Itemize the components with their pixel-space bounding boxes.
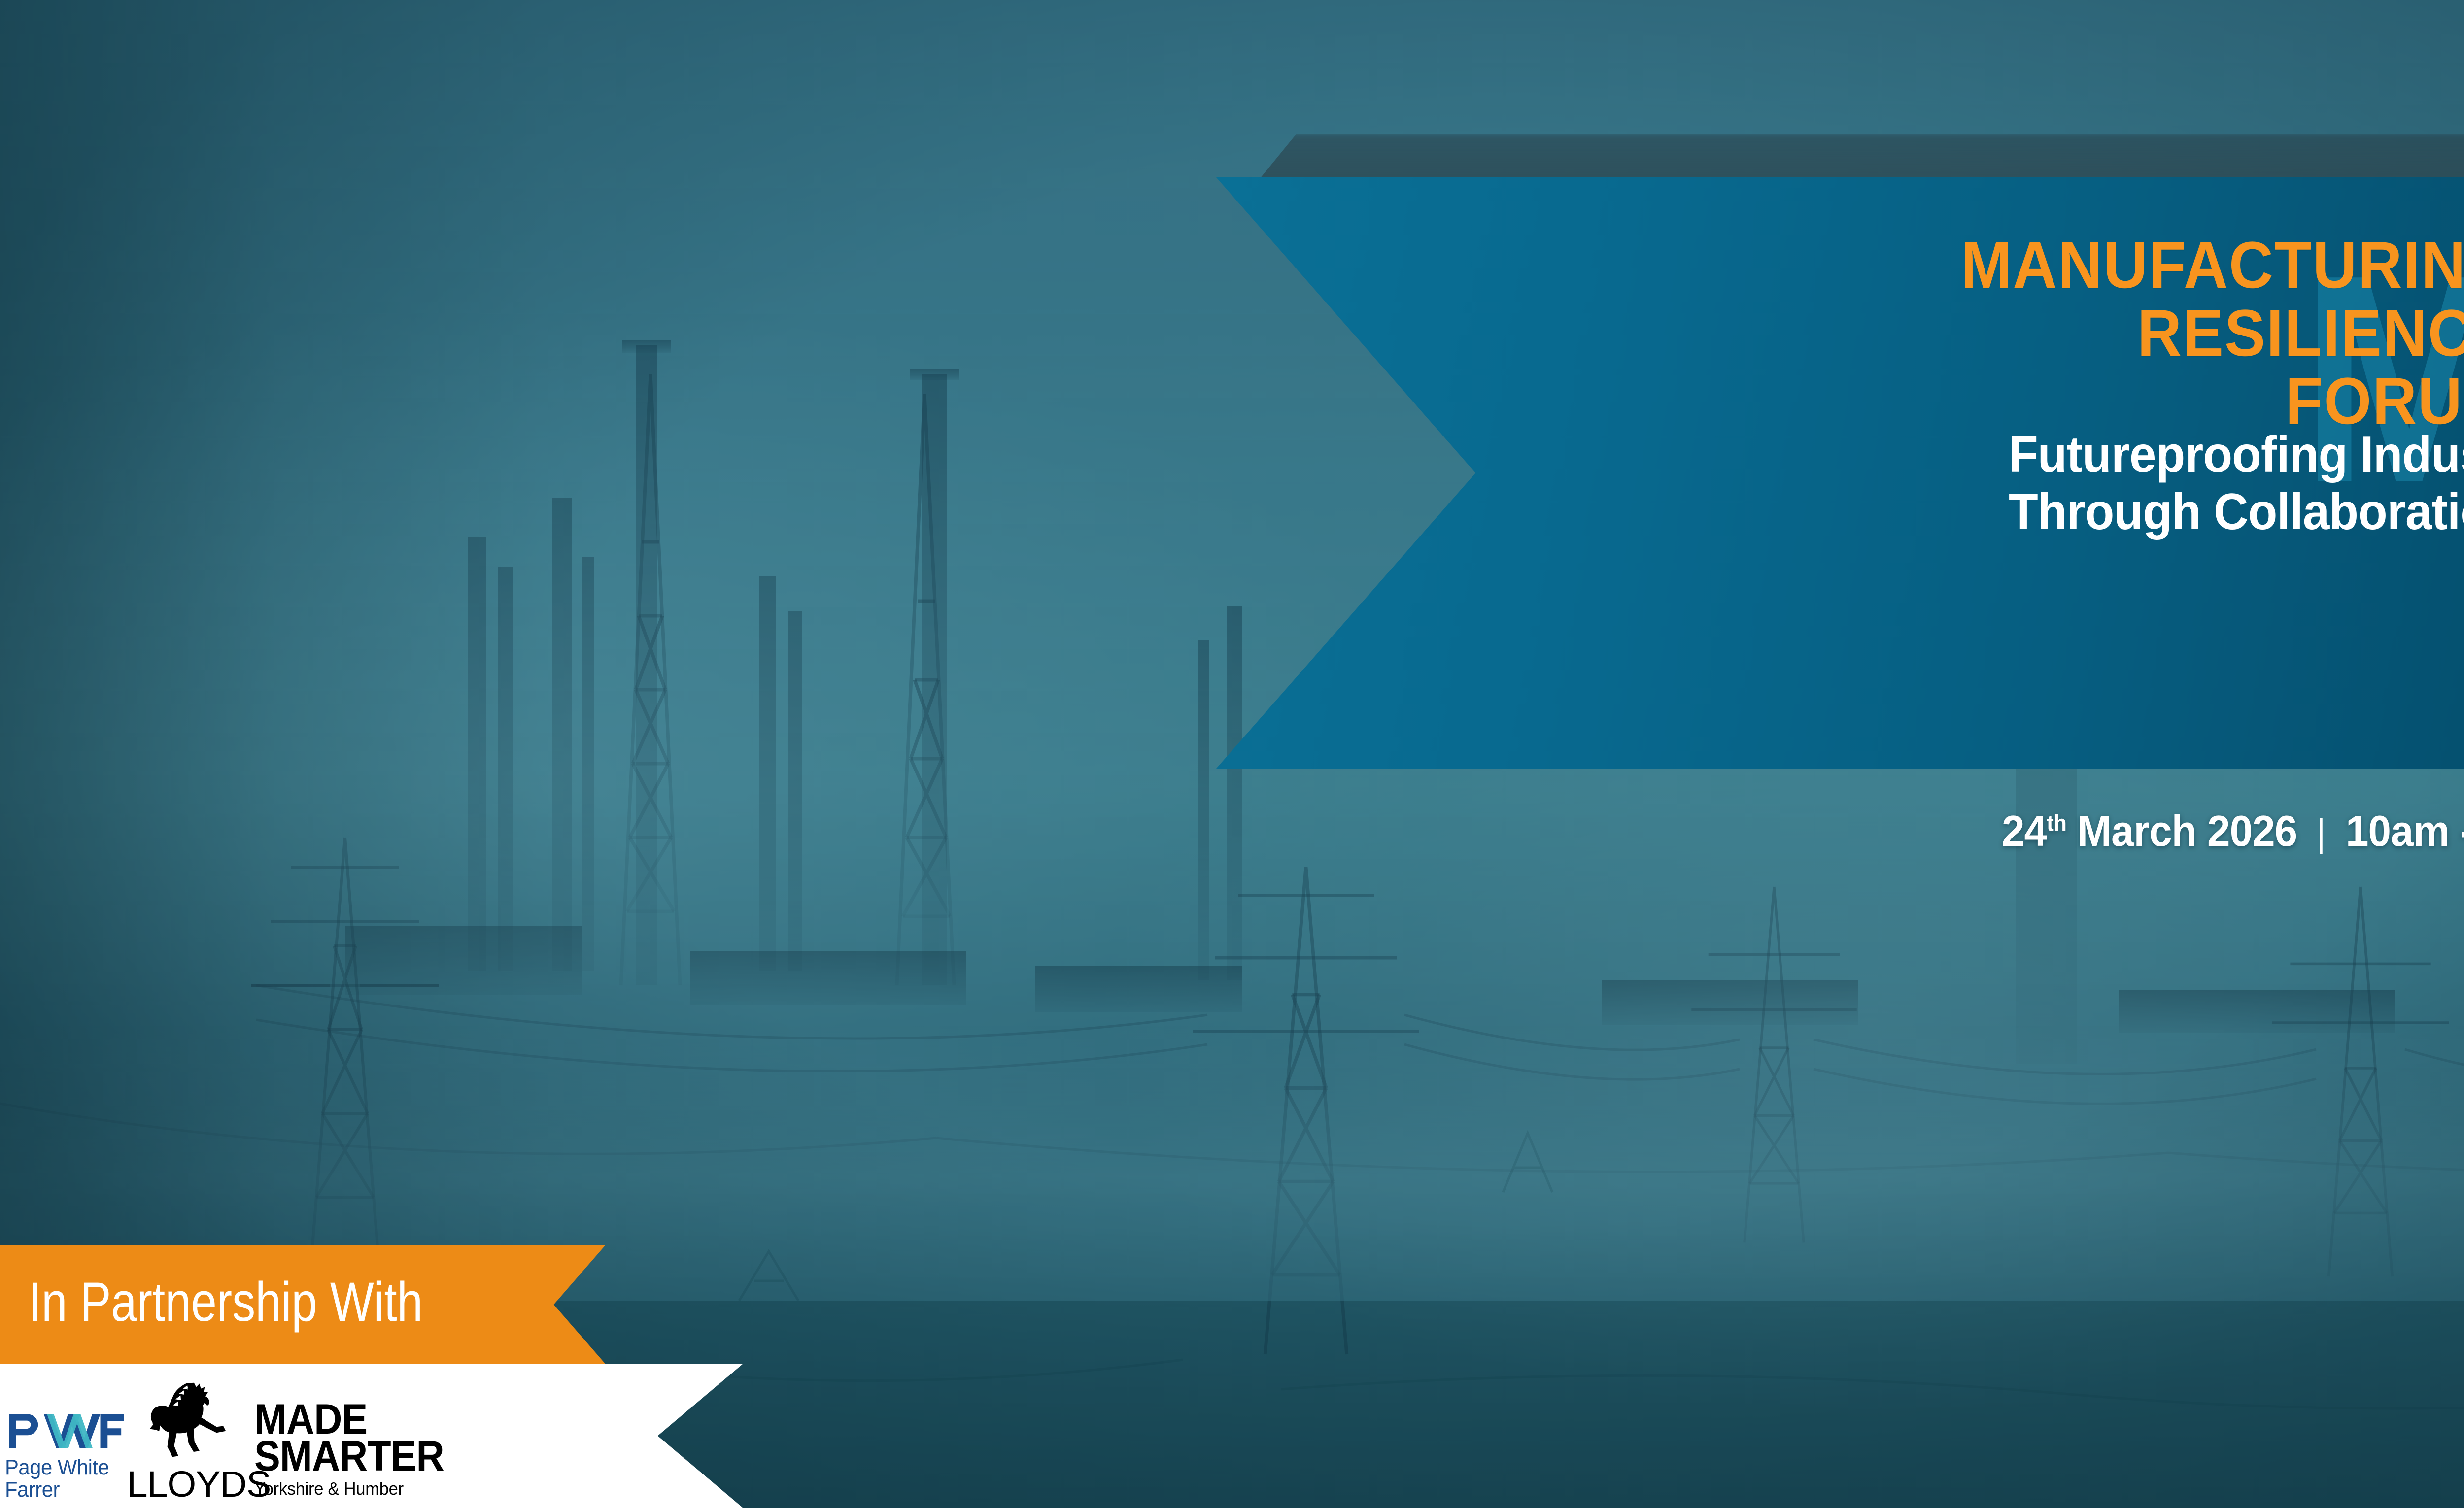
made-smarter-region: Yorkshire & Humber [254, 1478, 411, 1499]
pwf-wordmark-line-1: Page White [5, 1457, 122, 1479]
subtitle-line-1: Futureproofing Industry [2009, 426, 2464, 483]
logo-page-white-farrer: Page White Farrer [5, 1411, 128, 1508]
lloyds-wordmark: LLOYDS [127, 1463, 248, 1505]
logo-lloyds: LLOYDS [128, 1376, 246, 1508]
logo-made-smarter: MADE SMARTER Yorkshire & Humber [254, 1401, 417, 1508]
event-time: 10am - 4pm [2346, 806, 2464, 855]
pwf-wordmark: Page White Farrer [5, 1457, 122, 1501]
title-line-3: FORUM [1961, 368, 2464, 436]
subtitle-line-2: Through Collaboration [2009, 483, 2464, 540]
title-line-1: MANUFACTURING [1961, 232, 2464, 300]
made-smarter-wordmark-line-2: SMARTER [254, 1438, 404, 1475]
event-title: MANUFACTURING RESILIENCE FORUM [1919, 232, 2464, 436]
banner-drop-shadow [1258, 134, 2464, 181]
pwf-wordmark-line-2: Farrer [5, 1479, 122, 1501]
event-banner: MRF MANUFACTURING RESILIENCE FORUM Futur… [0, 0, 2464, 1508]
event-date-rest: March 2026 [2077, 806, 2297, 855]
event-date-ordinal: th [2047, 810, 2066, 836]
pwf-monogram-icon [5, 1411, 126, 1451]
title-line-2: RESILIENCE [1961, 300, 2464, 368]
partnership-ribbon-label: In Partnership With [29, 1270, 423, 1334]
partner-logo-panel: Page White Farrer LLOYDS M [0, 1364, 743, 1508]
partnership-ribbon: In Partnership With [0, 1245, 605, 1364]
event-subtitle: Futureproofing Industry Through Collabor… [2009, 426, 2464, 541]
event-date-day: 24 [2002, 806, 2047, 855]
lloyds-black-horse-icon [145, 1376, 230, 1461]
event-details-line: 24th March 2026 10am - 4pm Nexus Leeds [2002, 806, 2464, 856]
detail-separator-1 [2320, 818, 2323, 854]
